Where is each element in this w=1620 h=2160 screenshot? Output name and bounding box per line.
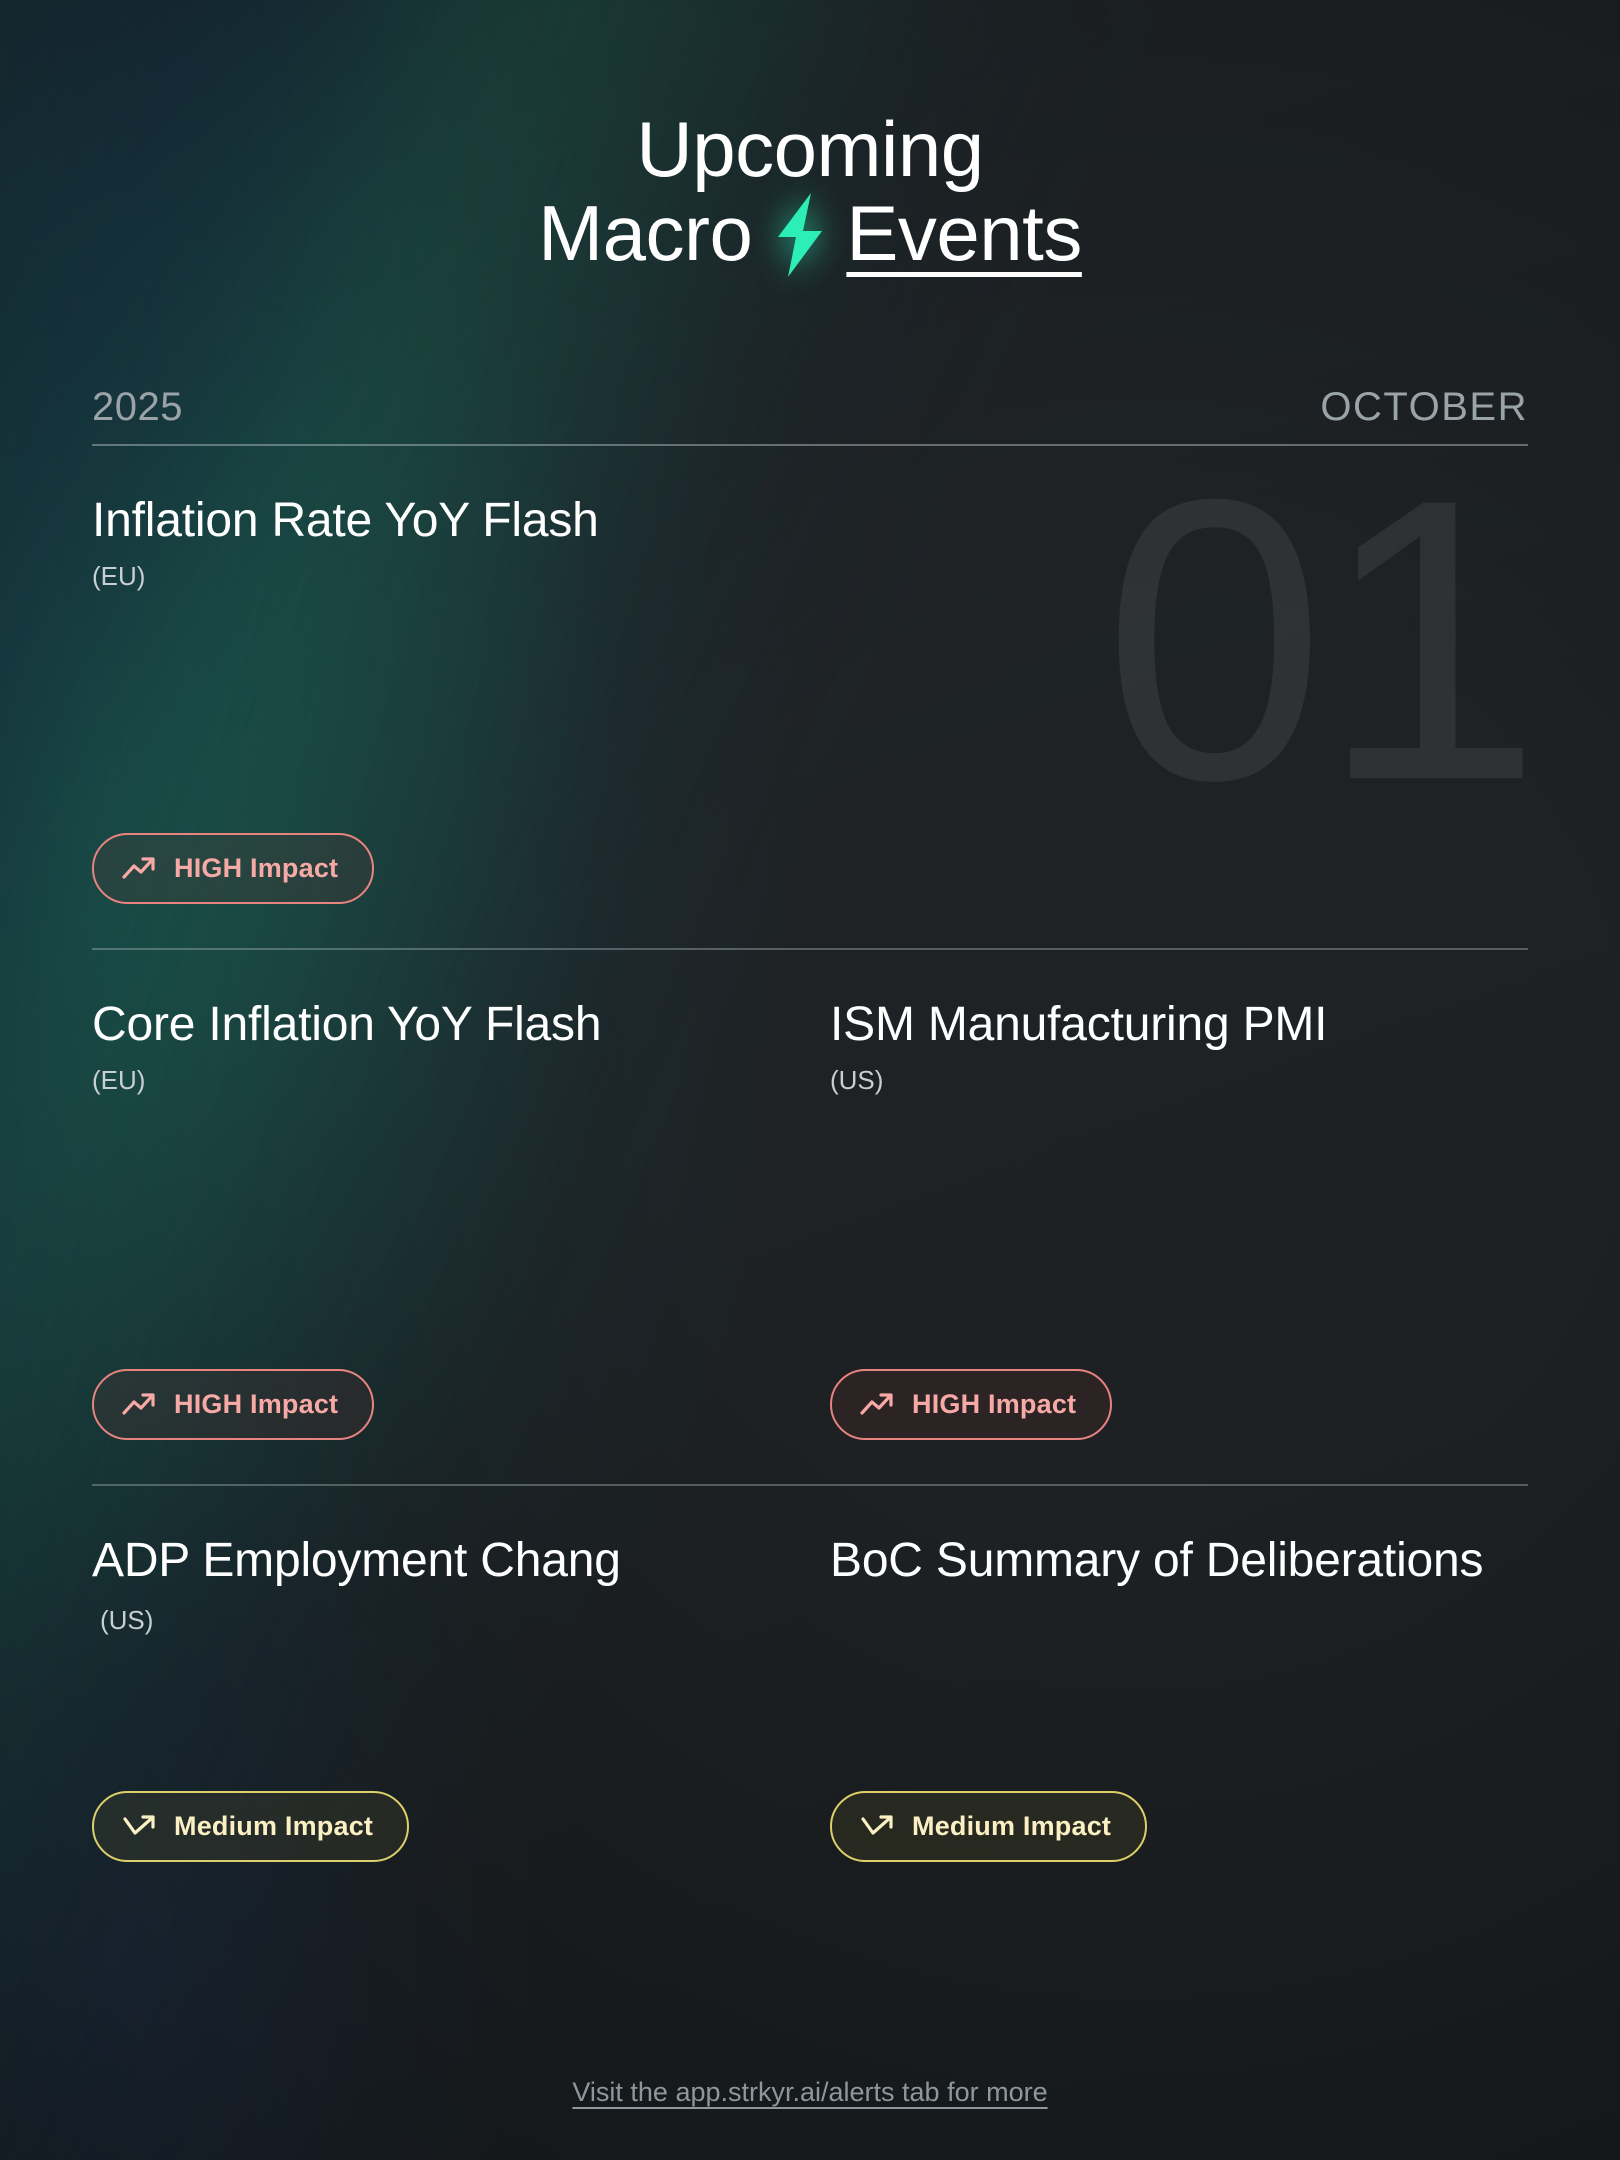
status-badge[interactable]: Medium Impact — [830, 1791, 1147, 1862]
trend-dip-up-arrow-icon — [860, 1813, 894, 1841]
event-country: (EU) — [92, 1065, 790, 1096]
trend-up-arrow-icon — [122, 855, 156, 883]
impact-label: HIGH Impact — [174, 1389, 338, 1420]
impact-badge-slot: HIGH Impact — [92, 833, 790, 948]
event-card[interactable]: Core Inflation YoY Flash (EU) HIGH Impac… — [92, 950, 790, 1484]
page-title: Upcoming Macro Events — [92, 0, 1528, 275]
impact-badge-slot: Medium Impact — [92, 1791, 790, 1906]
macro-events-poster: Upcoming Macro Events 2025 OCTOBER 01 In… — [0, 0, 1620, 2160]
impact-label: Medium Impact — [912, 1811, 1111, 1842]
impact-badge-slot: HIGH Impact — [92, 1369, 790, 1484]
impact-label: HIGH Impact — [912, 1389, 1076, 1420]
event-country: (EU) — [92, 561, 790, 592]
trend-up-arrow-icon — [860, 1391, 894, 1419]
title-word-events: Events — [846, 192, 1081, 275]
status-badge[interactable]: HIGH Impact — [830, 1369, 1112, 1440]
event-card-empty — [830, 446, 1528, 948]
status-badge[interactable]: HIGH Impact — [92, 1369, 374, 1440]
event-title: Inflation Rate YoY Flash — [92, 488, 790, 554]
event-title: BoC Summary of Deliberations — [830, 1528, 1528, 1594]
month-label: OCTOBER — [1320, 385, 1528, 430]
title-word-macro: Macro — [538, 192, 752, 275]
event-row: ADP Employment Chang (US) Medium Impact — [92, 1486, 1528, 1906]
trend-up-arrow-icon — [122, 1391, 156, 1419]
event-card[interactable]: Inflation Rate YoY Flash (EU) HIGH Impac… — [92, 446, 790, 948]
event-title: Core Inflation YoY Flash — [92, 992, 790, 1058]
event-title: ISM Manufacturing PMI — [830, 992, 1528, 1058]
impact-label: Medium Impact — [174, 1811, 373, 1842]
event-country: (US) — [830, 1065, 1528, 1096]
impact-label: HIGH Impact — [174, 853, 338, 884]
footer: Visit the app.strkyr.ai/alerts tab for m… — [0, 2077, 1620, 2108]
impact-badge-slot: HIGH Impact — [830, 1369, 1528, 1484]
impact-badge-slot: Medium Impact — [830, 1791, 1528, 1906]
status-badge[interactable]: Medium Impact — [92, 1791, 409, 1862]
event-title: ADP Employment Chang — [92, 1528, 790, 1594]
event-card[interactable]: BoC Summary of Deliberations Medium Impa… — [830, 1486, 1528, 1906]
poster-content: Upcoming Macro Events 2025 OCTOBER 01 In… — [0, 0, 1620, 2160]
calendar-header: 2025 OCTOBER — [92, 385, 1528, 446]
event-country: (US) — [92, 1605, 790, 1636]
event-row: Core Inflation YoY Flash (EU) HIGH Impac… — [92, 950, 1528, 1486]
event-card[interactable]: ADP Employment Chang (US) Medium Impact — [92, 1486, 790, 1906]
event-row: 01 Inflation Rate YoY Flash (EU) HIGH Im… — [92, 446, 1528, 950]
title-line-macro-events: Macro Events — [92, 191, 1528, 275]
trend-dip-up-arrow-icon — [122, 1813, 156, 1841]
footer-link[interactable]: Visit the app.strkyr.ai/alerts tab for m… — [572, 2077, 1047, 2107]
lightning-bolt-icon — [762, 193, 836, 277]
year-label: 2025 — [92, 385, 183, 430]
status-badge[interactable]: HIGH Impact — [92, 833, 374, 904]
event-card[interactable]: ISM Manufacturing PMI (US) HIGH Impact — [830, 950, 1528, 1484]
title-line-upcoming: Upcoming — [92, 108, 1528, 191]
